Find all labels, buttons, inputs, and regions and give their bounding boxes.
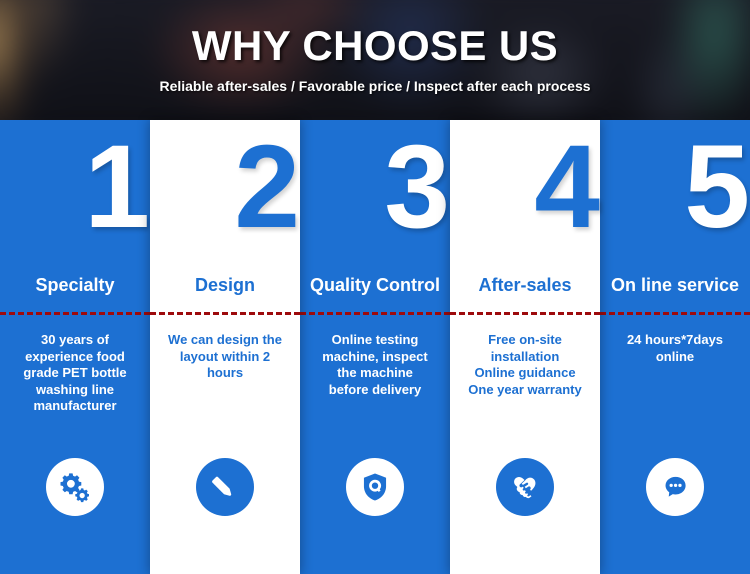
column-number: 3 xyxy=(384,128,448,246)
column-number: 1 xyxy=(84,128,148,246)
column-body-text: 30 years of experience food grade PET bo… xyxy=(6,332,144,415)
column-body-text: 24 hours*7days online xyxy=(606,332,744,365)
column-heading: After-sales xyxy=(450,275,600,296)
dashed-divider xyxy=(450,312,600,315)
icon-badge[interactable] xyxy=(346,458,404,516)
column-body-text: We can design the layout within 2 hours xyxy=(156,332,294,382)
column-number: 4 xyxy=(534,128,598,246)
pencil-ruler-icon xyxy=(209,471,241,503)
feature-column-specialty[interactable]: 1 Specialty 30 years of experience food … xyxy=(0,120,150,574)
dashed-divider xyxy=(150,312,300,315)
column-heading: Quality Control xyxy=(300,275,450,296)
column-number: 5 xyxy=(684,128,748,246)
column-body-text: Online testing machine, inspect the mach… xyxy=(306,332,444,398)
shield-q-icon xyxy=(360,472,390,502)
icon-badge[interactable] xyxy=(196,458,254,516)
feature-column-after-sales[interactable]: 4 After-sales Free on-site installation … xyxy=(450,120,600,574)
column-heading: On line service xyxy=(600,275,750,296)
column-number: 2 xyxy=(234,128,298,246)
chat-bubble-icon xyxy=(660,472,690,502)
column-heading: Design xyxy=(150,275,300,296)
dashed-divider xyxy=(600,312,750,315)
icon-badge[interactable] xyxy=(646,458,704,516)
feature-column-on-line-service[interactable]: 5 On line service 24 hours*7days online xyxy=(600,120,750,574)
feature-column-quality-control[interactable]: 3 Quality Control Online testing machine… xyxy=(300,120,450,574)
column-body-text: Free on-site installation Online guidanc… xyxy=(456,332,594,398)
icon-badge[interactable] xyxy=(496,458,554,516)
page-title: WHY CHOOSE US xyxy=(0,22,750,70)
gears-icon xyxy=(59,471,91,503)
feature-columns: 1 Specialty 30 years of experience food … xyxy=(0,120,750,574)
dashed-divider xyxy=(300,312,450,315)
page-subtitle: Reliable after-sales / Favorable price /… xyxy=(0,78,750,94)
column-heading: Specialty xyxy=(0,275,150,296)
why-choose-us-page: WHY CHOOSE US Reliable after-sales / Fav… xyxy=(0,0,750,574)
handshake-heart-icon xyxy=(509,471,541,503)
icon-badge[interactable] xyxy=(46,458,104,516)
dashed-divider xyxy=(0,312,150,315)
header-banner: WHY CHOOSE US Reliable after-sales / Fav… xyxy=(0,0,750,120)
feature-column-design[interactable]: 2 Design We can design the layout within… xyxy=(150,120,300,574)
